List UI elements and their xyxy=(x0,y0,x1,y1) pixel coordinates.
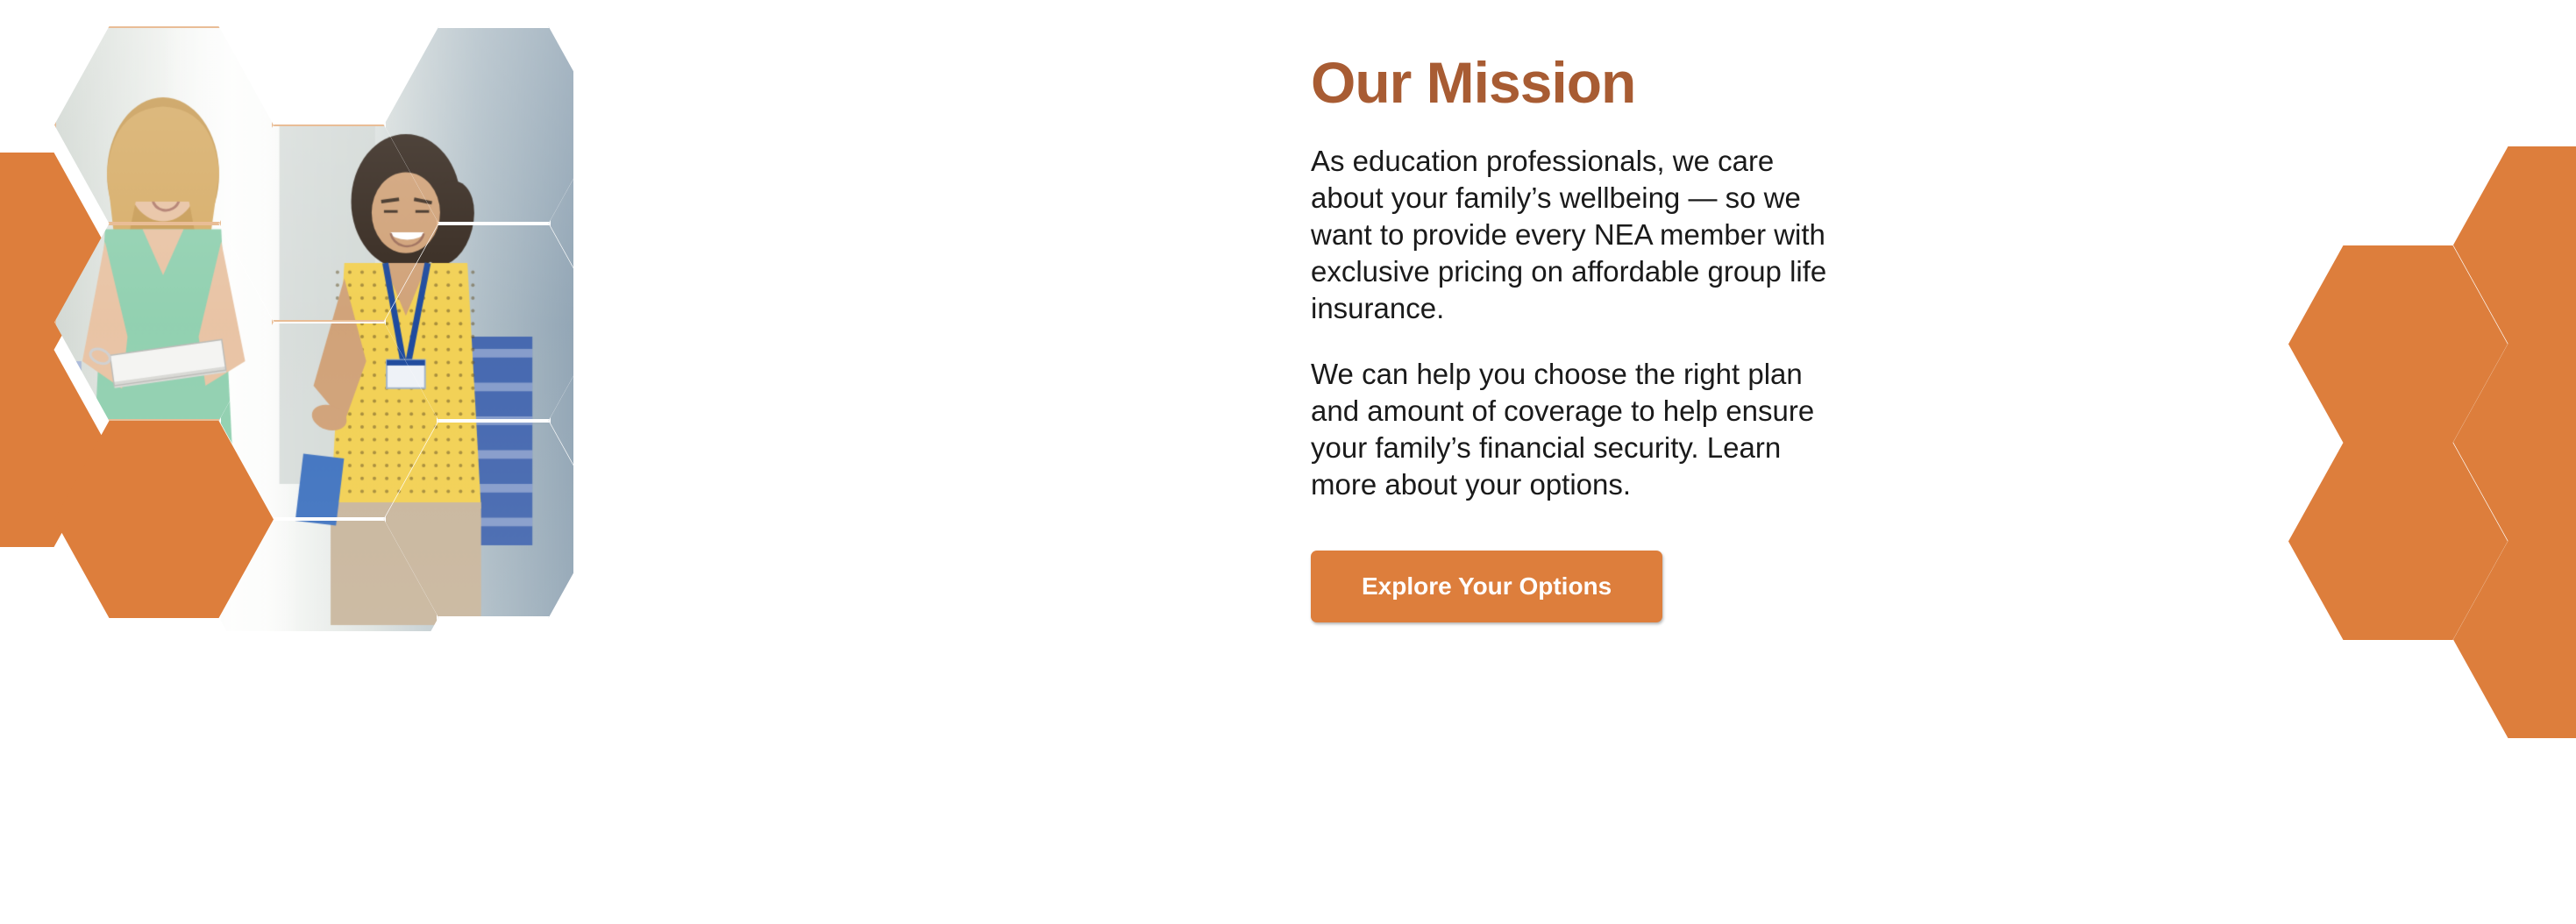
mission-paragraph-2: We can help you choose the right plan an… xyxy=(1311,356,1837,503)
page-title: Our Mission xyxy=(1311,53,1854,113)
mission-content: Our Mission As education professionals, … xyxy=(1311,53,1854,622)
hexagon-photo-collage xyxy=(0,0,684,924)
hexagon-decoration-right xyxy=(2085,0,2576,924)
explore-your-options-button[interactable]: Explore Your Options xyxy=(1311,551,1662,622)
mission-paragraph-1: As education professionals, we care abou… xyxy=(1311,143,1837,327)
